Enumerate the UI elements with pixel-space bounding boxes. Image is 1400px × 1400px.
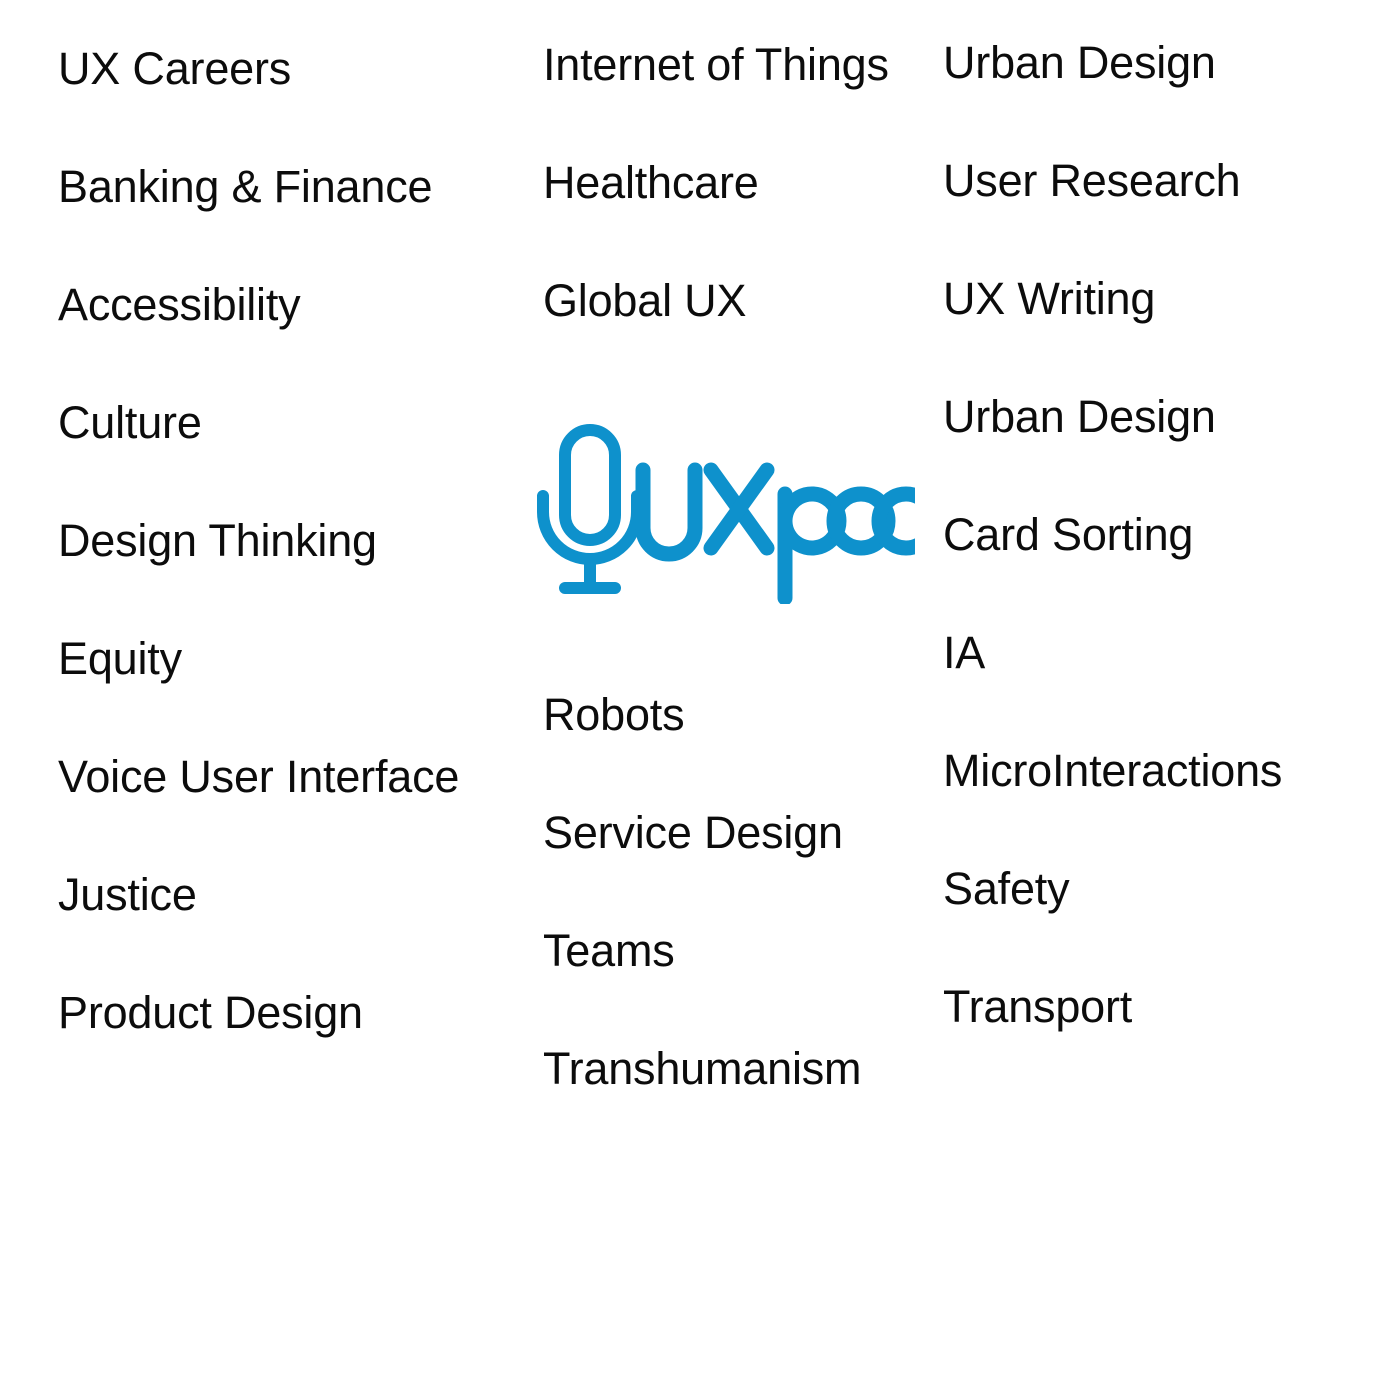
microphone-icon [543, 430, 637, 588]
topic-item-safety[interactable]: Safety [943, 862, 1069, 916]
topic-item-culture[interactable]: Culture [58, 396, 202, 450]
uxpod-wordmark [643, 468, 915, 598]
topic-board: UX Careers Banking & Finance Accessibili… [0, 0, 1400, 1400]
topic-item-global-ux[interactable]: Global UX [543, 274, 746, 328]
topic-item-accessibility[interactable]: Accessibility [58, 278, 300, 332]
topic-item-teams[interactable]: Teams [543, 924, 675, 978]
topic-item-design-thinking[interactable]: Design Thinking [58, 514, 377, 568]
topic-column-1: UX Careers Banking & Finance Accessibili… [58, 0, 528, 1400]
topic-item-ux-careers[interactable]: UX Careers [58, 42, 291, 96]
topic-item-banking-finance[interactable]: Banking & Finance [58, 160, 432, 214]
topic-item-healthcare[interactable]: Healthcare [543, 156, 759, 210]
topic-item-equity[interactable]: Equity [58, 632, 182, 686]
topic-item-urban-design[interactable]: Urban Design [943, 36, 1216, 90]
topic-item-ia[interactable]: IA [943, 626, 985, 680]
topic-item-transport[interactable]: Transport [943, 980, 1132, 1034]
topic-item-service-design[interactable]: Service Design [543, 806, 843, 860]
topic-item-urban-design-2[interactable]: Urban Design [943, 390, 1216, 444]
topic-item-internet-of-things[interactable]: Internet of Things [543, 38, 889, 92]
topic-item-user-research[interactable]: User Research [943, 154, 1241, 208]
topic-item-card-sorting[interactable]: Card Sorting [943, 508, 1193, 562]
topic-item-justice[interactable]: Justice [58, 868, 197, 922]
topic-column-3: Urban Design User Research UX Writing Ur… [943, 0, 1363, 1400]
topic-item-transhumanism[interactable]: Transhumanism [543, 1042, 861, 1096]
topic-item-product-design[interactable]: Product Design [58, 986, 363, 1040]
topic-item-ux-writing[interactable]: UX Writing [943, 272, 1155, 326]
topic-item-voice-user-interface[interactable]: Voice User Interface [58, 750, 459, 804]
topic-column-2: Internet of Things Healthcare Global UX … [543, 0, 933, 1400]
topic-item-robots[interactable]: Robots [543, 688, 684, 742]
topic-item-microinteractions[interactable]: MicroInteractions [943, 744, 1282, 798]
uxpod-logo[interactable] [535, 424, 915, 604]
